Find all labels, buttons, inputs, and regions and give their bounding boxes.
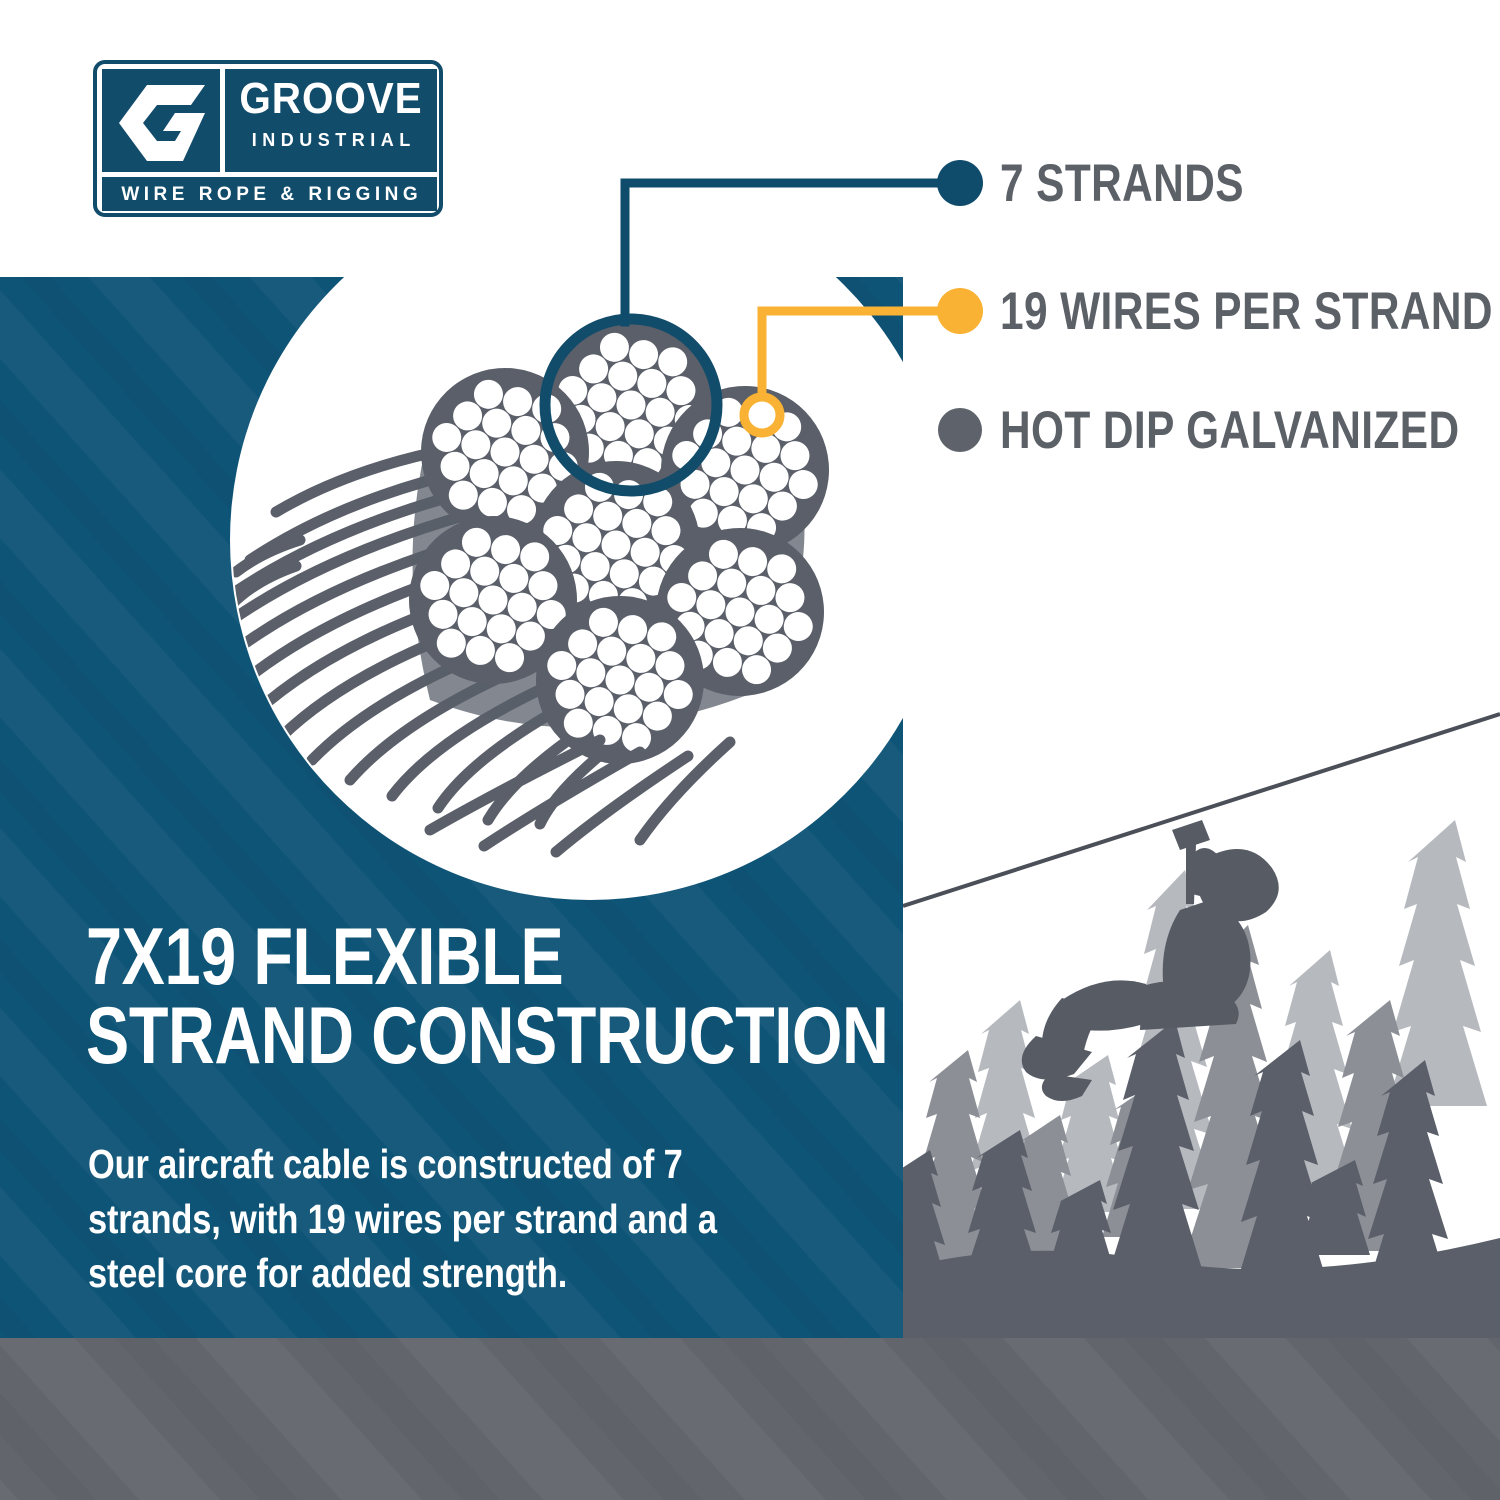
callout-connector-wires — [762, 311, 960, 415]
logo-wordmark: GROOVE — [235, 77, 426, 121]
callout-label-galvanized: HOT DIP GALVANIZED — [1000, 404, 1459, 457]
headline-line-2: STRAND CONSTRUCTION — [86, 997, 718, 1076]
groove-g-monogram-icon — [117, 85, 205, 161]
body-copy: Our aircraft cable is constructed of 7 s… — [88, 1137, 810, 1301]
logo-tagline-cell: WIRE ROPE & RIGGING — [102, 177, 437, 211]
body-line-3: steel core for added strength. — [88, 1246, 810, 1301]
body-line-2: strands, with 19 wires per strand and a — [88, 1192, 810, 1247]
callout-dot-wires — [937, 288, 983, 334]
page-title: 7X19 FLEXIBLE STRAND CONSTRUCTION — [86, 918, 718, 1077]
callout-dot-galvanized — [938, 408, 982, 452]
logo-tagline: WIRE ROPE & RIGGING — [104, 185, 435, 204]
logo-mark-cell — [102, 69, 220, 172]
brand-logo[interactable]: GROOVE INDUSTRIAL WIRE ROPE & RIGGING — [93, 60, 443, 217]
headline-line-1: 7X19 FLEXIBLE — [86, 918, 718, 997]
callout-label-strands: 7 STRANDS — [1000, 157, 1244, 210]
infographic-canvas: 7 STRANDS 19 WIRES PER STRAND HOT DIP GA… — [0, 0, 1500, 1500]
single-wire-marker-ring — [744, 397, 780, 433]
callout-connector-strands — [625, 183, 960, 322]
body-line-1: Our aircraft cable is constructed of 7 — [88, 1137, 810, 1192]
callout-dot-strands — [937, 160, 983, 206]
logo-subtitle: INDUSTRIAL — [227, 131, 435, 149]
logo-wordmark-cell: GROOVE INDUSTRIAL — [225, 69, 437, 172]
callout-label-wires: 19 WIRES PER STRAND — [1000, 285, 1493, 338]
